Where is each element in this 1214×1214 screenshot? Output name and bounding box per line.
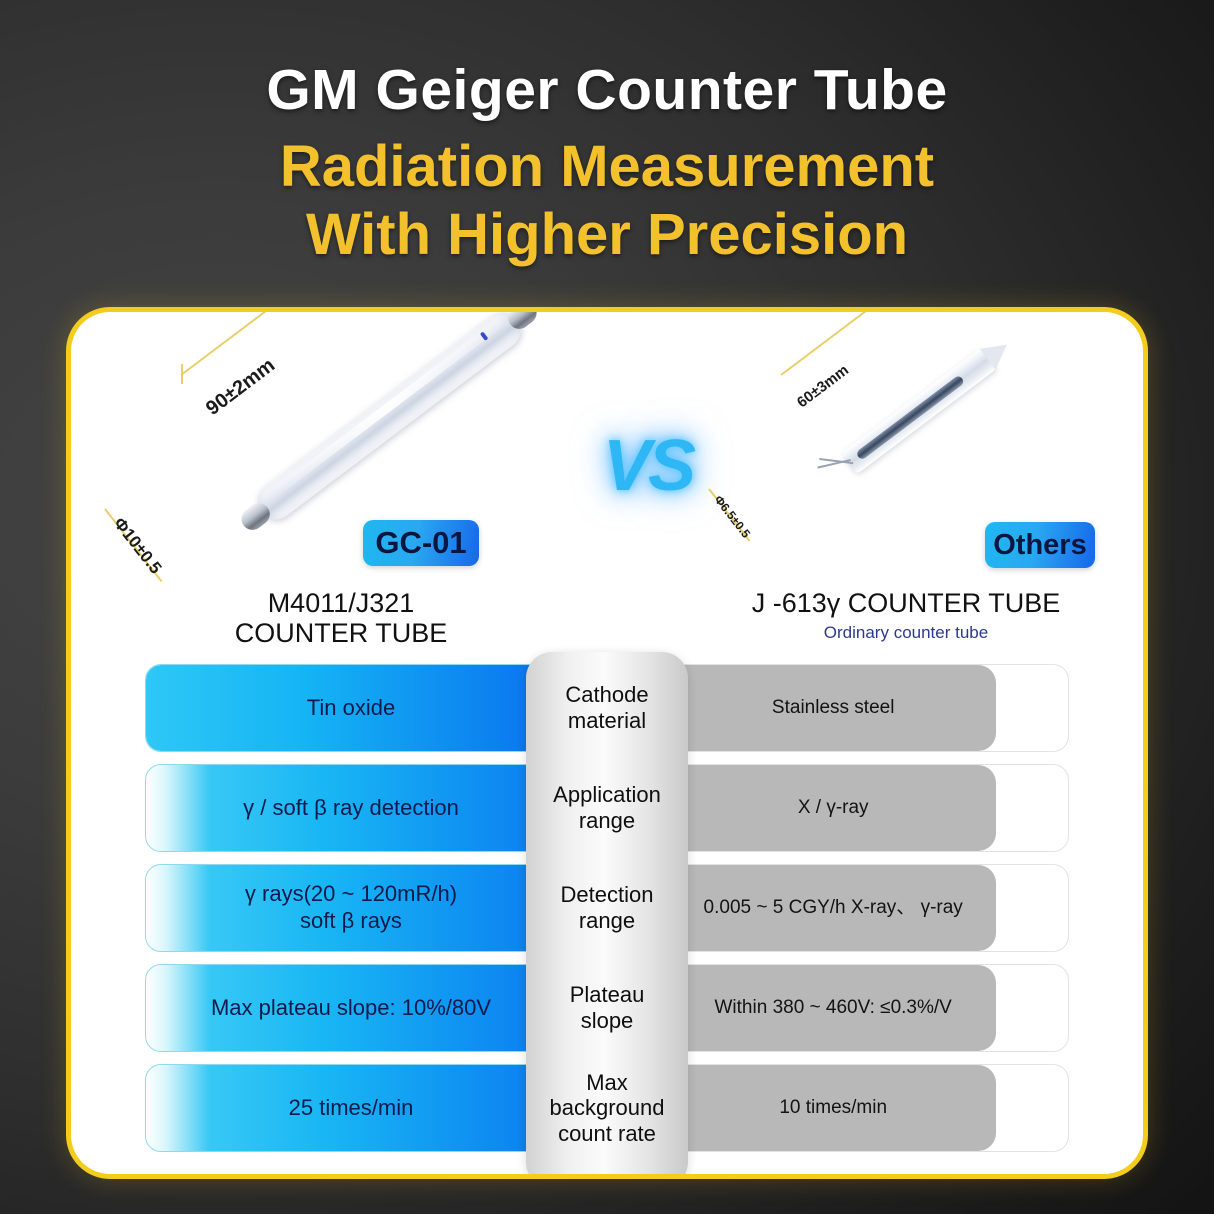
others-length-dimension-label: 60±3mm: [794, 362, 852, 412]
products-section: 90±2mm Φ10±0.5 GC-01 M4011/J321 COUNTER …: [71, 312, 1143, 652]
badge-gc01: GC-01: [363, 520, 479, 566]
comparison-table: Tin oxide Stainless steel γ / soft β ray…: [71, 660, 1143, 1179]
badge-others: Others: [985, 522, 1095, 568]
attribute-plateau-slope: Plateau slope: [526, 960, 688, 1056]
page-subtitle: Radiation Measurement With Higher Precis…: [0, 133, 1214, 270]
gc01-value-text: γ rays(20 ~ 120mR/h) soft β rays: [189, 881, 501, 935]
product-gc01: 90±2mm Φ10±0.5 GC-01 M4011/J321 COUNTER …: [81, 312, 601, 652]
attribute-line-2: range: [553, 808, 661, 834]
tube-highlight: [265, 319, 504, 502]
others-value-track: 0.005 ~ 5 CGY/h X-ray、 γ-ray: [669, 864, 1069, 952]
attribute-line-1: Detection: [561, 882, 654, 908]
tube-tip: [980, 334, 1015, 369]
attribute-line-1: Plateau: [570, 982, 645, 1008]
others-value-text: X / γ-ray: [670, 796, 996, 819]
attribute-line-1: Max: [550, 1070, 665, 1096]
tube-core: [855, 375, 965, 461]
others-caption: J -613γ COUNTER TUBE Ordinary counter tu…: [671, 588, 1141, 643]
attribute-application-range: Application range: [526, 760, 688, 856]
header: GM Geiger Counter Tube Radiation Measure…: [0, 0, 1214, 270]
attribute-cathode-material: Cathode material: [526, 660, 688, 756]
ordinary-tube-graphic: [841, 348, 997, 475]
gc01-value-line-1: γ rays(20 ~ 120mR/h): [245, 881, 457, 908]
gc01-value-text: Tin oxide: [251, 695, 439, 722]
attribute-line-2: background: [550, 1095, 665, 1121]
geiger-tube-graphic: [250, 307, 527, 527]
others-value-text: 10 times/min: [670, 1096, 996, 1119]
diameter-dimension-label: Φ10±0.5: [109, 514, 165, 578]
others-value-text: 0.005 ~ 5 CGY/h X-ray、 γ-ray: [670, 896, 996, 919]
gc01-value-track: 25 times/min: [145, 1064, 545, 1152]
gc01-caption: M4011/J321 COUNTER TUBE: [81, 588, 601, 648]
comparison-card: 90±2mm Φ10±0.5 GC-01 M4011/J321 COUNTER …: [66, 307, 1148, 1179]
attribute-line-2: slope: [570, 1008, 645, 1034]
others-value-track: 10 times/min: [669, 1064, 1069, 1152]
subtitle-line-1: Radiation Measurement: [0, 133, 1214, 201]
gc01-value-text: 25 times/min: [233, 1095, 458, 1122]
gc01-name-line-1: M4011/J321: [81, 588, 601, 618]
others-subtitle: Ordinary counter tube: [671, 623, 1141, 643]
attribute-line-3: count rate: [550, 1121, 665, 1147]
gc01-value-track: γ rays(20 ~ 120mR/h) soft β rays: [145, 864, 545, 952]
gc01-value-track: Max plateau slope: 10%/80V: [145, 964, 545, 1052]
gc01-value-track: γ / soft β ray detection: [145, 764, 545, 852]
page-title: GM Geiger Counter Tube: [0, 62, 1214, 119]
others-value-track: X / γ-ray: [669, 764, 1069, 852]
length-dimension-tick-start: [181, 364, 183, 384]
others-value-text: Within 380 ~ 460V: ≤0.3%/V: [670, 996, 996, 1019]
attribute-detection-range: Detection range: [526, 860, 688, 956]
gc01-illustration: 90±2mm Φ10±0.5: [81, 312, 601, 562]
length-dimension-line: [180, 307, 445, 376]
others-value-text: Stainless steel: [670, 696, 996, 719]
attribute-line-2: range: [561, 908, 654, 934]
others-value-track: Within 380 ~ 460V: ≤0.3%/V: [669, 964, 1069, 1052]
attribute-line-2: material: [565, 708, 648, 734]
product-others: 60±3mm Φ6.5±0.5 Others J -613γ COUNTER T…: [671, 312, 1141, 652]
gc01-value-line-2: soft β rays: [245, 908, 457, 935]
others-name: J -613γ COUNTER TUBE: [671, 588, 1141, 618]
length-dimension-label: 90±2mm: [202, 354, 280, 420]
attribute-column: Cathode material Application range Detec…: [526, 652, 688, 1179]
attribute-line-1: Application: [553, 782, 661, 808]
subtitle-line-2: With Higher Precision: [0, 201, 1214, 269]
others-value-track: Stainless steel: [669, 664, 1069, 752]
gc01-value-track: Tin oxide: [145, 664, 545, 752]
others-length-dimension-line: [780, 307, 938, 376]
gc01-name-line-2: COUNTER TUBE: [81, 618, 601, 648]
gc01-value-text: Max plateau slope: 10%/80V: [155, 995, 535, 1022]
others-diameter-dimension-label: Φ6.5±0.5: [711, 493, 753, 541]
infographic-page: GM Geiger Counter Tube Radiation Measure…: [0, 0, 1214, 1214]
attribute-max-background-count-rate: Max background count rate: [526, 1060, 688, 1156]
attribute-line-1: Cathode: [565, 682, 648, 708]
gc01-value-text: γ / soft β ray detection: [187, 795, 503, 822]
